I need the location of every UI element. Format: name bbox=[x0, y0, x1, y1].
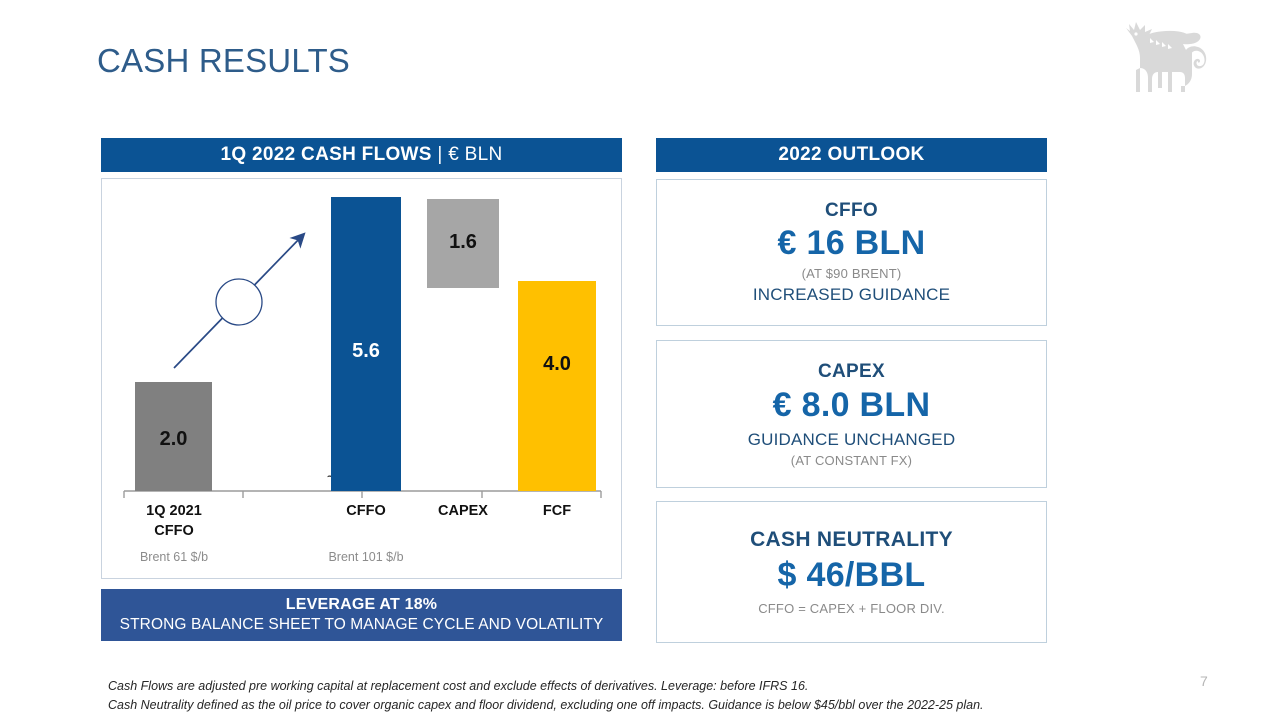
outlook-neutrality-kicker: CASH NEUTRALITY bbox=[750, 528, 953, 552]
outlook-cffo-value: € 16 BLN bbox=[778, 224, 926, 263]
brent-label-1q-2021: Brent 61 $/b bbox=[124, 550, 224, 564]
chart-header-light: | € BLN bbox=[437, 144, 502, 166]
category-label-cffo: CFFO bbox=[316, 502, 416, 522]
category-label-fcf: FCF bbox=[507, 502, 607, 522]
chart-header-strong: 1Q 2022 CASH FLOWS bbox=[220, 144, 431, 166]
bar-fcf: 4.0 bbox=[518, 281, 596, 491]
footnote-line-2: Cash Neutrality defined as the oil price… bbox=[108, 696, 1058, 715]
outlook-header-label: 2022 OUTLOOK bbox=[778, 144, 924, 166]
outlook-capex-note-small: (AT CONSTANT FX) bbox=[791, 453, 912, 468]
bar-value-1q-2021-cffo: 2.0 bbox=[135, 428, 212, 451]
outlook-card-cffo: CFFO € 16 BLN (AT $90 BRENT) INCREASED G… bbox=[656, 179, 1047, 326]
footnote-line-1: Cash Flows are adjusted pre working capi… bbox=[108, 677, 1058, 696]
outlook-cffo-note-small: (AT $90 BRENT) bbox=[802, 266, 902, 281]
chart-panel-header: 1Q 2022 CASH FLOWS | € BLN bbox=[101, 138, 622, 172]
outlook-neutrality-value: $ 46/BBL bbox=[778, 556, 926, 595]
leverage-title: LEVERAGE AT 18% bbox=[286, 595, 437, 615]
bar-cffo: 5.6 bbox=[331, 197, 401, 491]
outlook-capex-kicker: CAPEX bbox=[818, 361, 885, 383]
cash-flows-chart-card: ~3x 2.0 5.6 1.6 4.0 1Q 2021 CFFO CFFO CA… bbox=[101, 178, 622, 579]
eni-logo bbox=[1114, 14, 1236, 98]
leverage-summary-bar: LEVERAGE AT 18% STRONG BALANCE SHEET TO … bbox=[101, 589, 622, 641]
category-label-capex: CAPEX bbox=[413, 502, 513, 522]
outlook-neutrality-note-small: CFFO = CAPEX + FLOOR DIV. bbox=[758, 601, 945, 616]
outlook-cffo-kicker: CFFO bbox=[825, 200, 878, 222]
bar-capex: 1.6 bbox=[427, 199, 499, 288]
bar-1q-2021-cffo: 2.0 bbox=[135, 382, 212, 491]
outlook-panel-header: 2022 OUTLOOK bbox=[656, 138, 1047, 172]
slide-canvas: CASH RESULTS 1Q 2022 CAS bbox=[0, 0, 1280, 720]
page-number: 7 bbox=[1200, 673, 1208, 689]
outlook-capex-value: € 8.0 BLN bbox=[773, 386, 931, 425]
bar-value-capex: 1.6 bbox=[427, 231, 499, 254]
category-label-1q-2021-cffo: 1Q 2021 CFFO bbox=[124, 502, 224, 541]
brent-label-1q-2022: Brent 101 $/b bbox=[316, 550, 416, 564]
outlook-cffo-note-medium: INCREASED GUIDANCE bbox=[753, 285, 950, 305]
bar-value-fcf: 4.0 bbox=[518, 353, 596, 376]
outlook-card-cash-neutrality: CASH NEUTRALITY $ 46/BBL CFFO = CAPEX + … bbox=[656, 501, 1047, 643]
page-title: CASH RESULTS bbox=[97, 42, 350, 80]
outlook-card-capex: CAPEX € 8.0 BLN GUIDANCE UNCHANGED (AT C… bbox=[656, 340, 1047, 488]
leverage-subtitle: STRONG BALANCE SHEET TO MANAGE CYCLE AND… bbox=[120, 615, 604, 635]
footnotes: Cash Flows are adjusted pre working capi… bbox=[108, 677, 1058, 716]
bar-value-cffo: 5.6 bbox=[331, 340, 401, 363]
outlook-capex-note-medium: GUIDANCE UNCHANGED bbox=[748, 430, 956, 450]
